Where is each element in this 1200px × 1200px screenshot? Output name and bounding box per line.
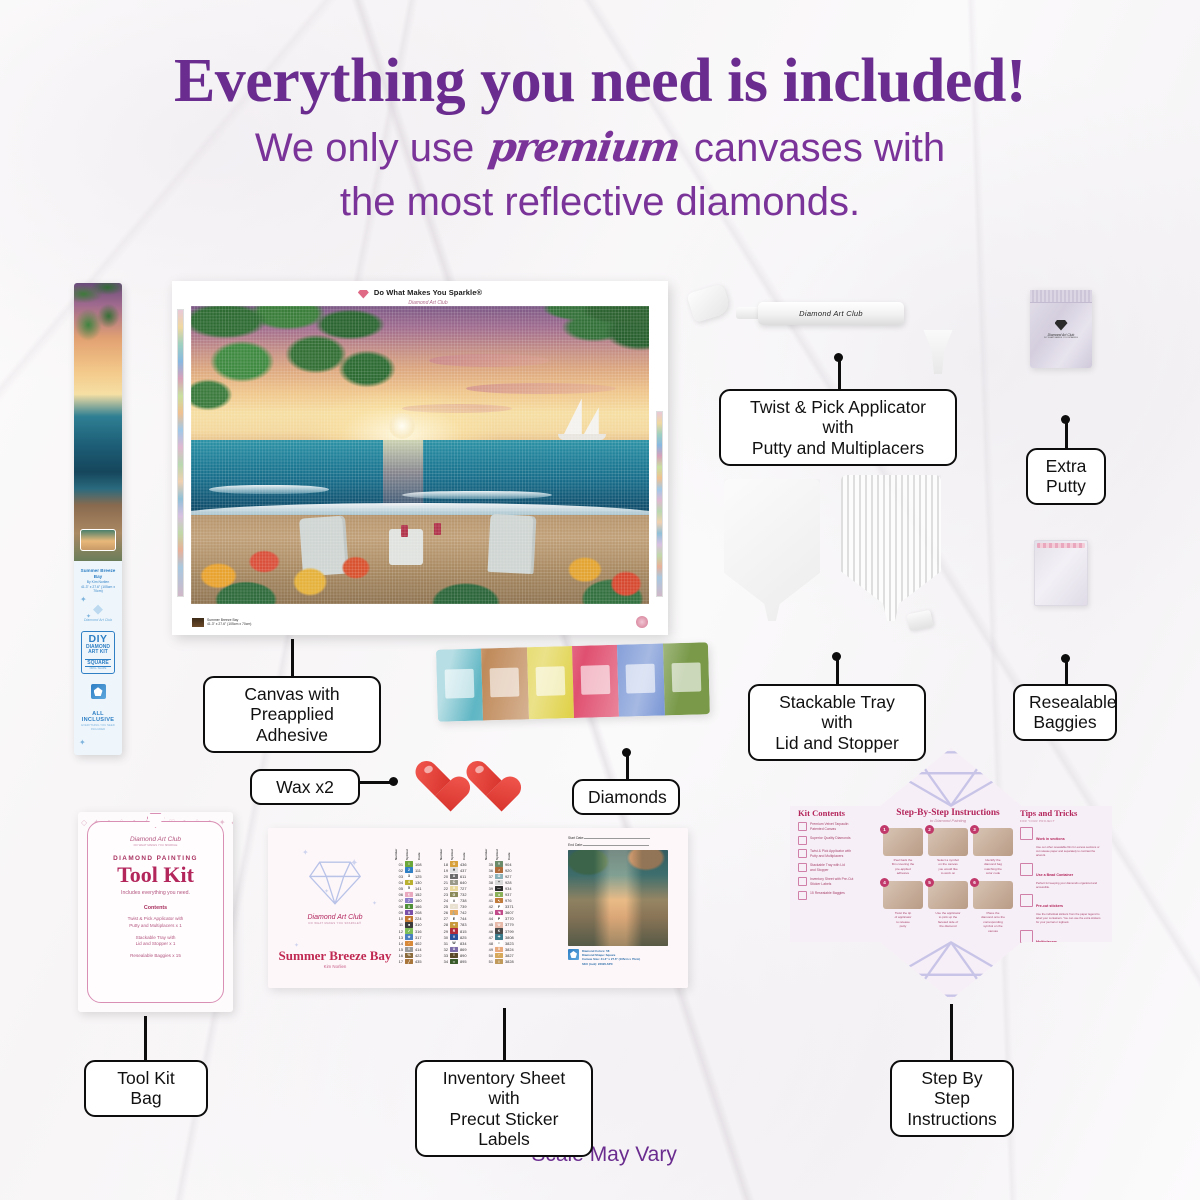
stickers-icon [1020,894,1033,907]
product-sleeve-packaging: Summer Breeze Bay By Kim Norlien 41.3" x… [74,283,122,755]
row-number: 04 [394,880,403,885]
inventory-sheet-icon [798,877,807,886]
wax-heart [466,760,508,798]
row-symbol: ■ [405,922,413,927]
inventory-meta-text: Diamond Colors: 58 Diamond Shape: Square… [582,949,640,966]
toolkit-brand: Diamond Art Club [97,836,214,843]
row-code: 310 [415,922,430,927]
toolkit-content-item: Twist & Pick Applicator with Putty and M… [97,916,214,930]
putty-bag-brand-sub: DO WHAT MAKES YOU SPARKLE [1044,337,1078,339]
artwork-wave [402,491,552,499]
row-number: 22 [439,886,448,891]
sleeve-size: 41.3" x 27.6" (105cm x 70cm) [77,585,119,594]
tip-body: Use the individual stickers from the pap… [1036,912,1104,925]
row-number: 40 [484,892,493,897]
canvas-icon [798,822,807,831]
step-photo: 5 [928,881,968,909]
step-photo: 6 [973,881,1013,909]
callout-applicator: Twist & Pick Applicator with Putty and M… [719,389,957,466]
leader-line-diamonds [626,752,629,780]
column-header: Code [507,838,522,860]
row-code: 732 [460,892,475,897]
tip-item: Pre-cut stickers Use the individual stic… [1020,894,1104,925]
callout-extra-putty: Extra Putty [1026,448,1106,505]
steps-grid: 1Peel back the film covering the pre-app… [883,828,1013,933]
callout-instructions: Step By Step Instructions [890,1060,1014,1137]
diamond-bag-sheen [436,642,710,722]
row-symbol: ╱ [405,959,413,964]
row-symbol: ◀ [405,916,413,921]
row-symbol: 8 [405,904,413,909]
sparkle-icon: ✦ [302,848,309,857]
row-number: 12 [394,929,403,934]
row-symbol: 3 [405,874,413,879]
row-code: 3828 [505,959,520,964]
row-symbol: I [495,959,503,964]
applicator-tip [736,307,760,319]
toolkit-content-item: Stackable Tray with Lid and Stopper x 1 [97,935,214,949]
row-code: 895 [460,959,475,964]
canvas-footer-right [636,616,648,628]
row-code: 435 [415,959,430,964]
leader-line-wax [358,781,391,784]
sparkle-icon: ✦ [80,595,87,604]
row-number: 01 [394,862,403,867]
kit-contents-item: Stackable Tray with Lid and Stopper [798,863,876,873]
inventory-end-date: End Date: [568,843,680,847]
row-code: 825 [460,935,475,940]
row-code: 160 [415,898,430,903]
sections-icon [1020,827,1033,840]
row-symbol: ⌐ [450,904,458,909]
kit-contents-item: 15 Resealable Baggies [798,891,876,900]
end-date-line [583,845,649,846]
row-code: 738 [460,898,475,903]
wax-heart-gloss [474,764,485,774]
row-symbol: 9 [405,910,413,915]
kit-contents-text: Superior Quality Diamonds [810,836,851,841]
diamond-painting-canvas: Do What Makes You Sparkle® Diamond Art C… [172,281,668,635]
row-number: 18 [439,862,448,867]
resealable-baggie [1034,540,1088,606]
inventory-table-col-1: NumberSymbolCode01I108022111033125044130… [394,838,432,982]
row-symbol: W [450,941,458,946]
row-number: 36 [484,868,493,873]
column-header: Symbol [405,838,415,860]
row-symbol: F [495,904,503,909]
row-symbol: P [495,916,503,921]
instruction-step: 3Identify the diamond bag matching the c… [973,828,1013,876]
row-symbol: G [450,892,458,897]
canvas-footer-notice [443,620,444,623]
row-code: 3824 [505,947,520,952]
row-number: 02 [394,868,403,873]
row-code: 783 [460,922,475,927]
row-code: 166 [415,904,430,909]
sleeve-title: Summer Breeze Bay [77,568,119,580]
canvas-product-label: Summer Breeze Bay 41.3" x 27.6" (105cm x… [207,618,251,627]
tip-body: Use our other resealable film for excess… [1036,845,1104,858]
kit-contents-text: Twist & Pick Applicator with Putty and M… [810,849,851,859]
leader-line-extra-putty [1065,419,1068,449]
row-symbol: X [495,947,503,952]
row-code: 742 [460,910,475,915]
row-number: 16 [394,953,403,958]
row-code: 611 [460,874,475,879]
applicator-brand-label: Diamond Art Club [799,309,863,318]
kit-contents-text: Stackable Tray with Lid and Stopper [810,863,845,873]
artwork-foreground-flowers [191,503,649,604]
row-symbol: ⚓ [450,910,458,915]
step-photo: 4 [883,881,923,909]
step-number: 4 [880,878,889,887]
step-photo: 3 [973,828,1013,856]
row-symbol: ✦ [450,922,458,927]
canvas-header: Do What Makes You Sparkle® Diamond Art C… [175,284,665,304]
sparkle-icon: ✦ [372,900,377,907]
row-number: 50 [484,953,493,958]
canvas-footer: Summer Breeze Bay 41.3" x 27.6" (105cm x… [192,612,648,632]
row-number: 06 [394,892,403,897]
leader-line-baggies [1065,658,1068,684]
instruction-step: 6Place the diamond onto the correspondin… [973,881,1013,933]
kit-contents-text: Premium Velvet Tarpaulin Patented Canvas [810,822,848,832]
step-number: 5 [925,878,934,887]
row-code: 3799 [505,929,520,934]
artwork-overhanging-palm [438,306,649,425]
row-code: 3827 [505,953,520,958]
row-code: 3607 [505,910,520,915]
sparkle-icon: ✦ [79,738,86,747]
canvas-swatch [192,618,204,627]
inventory-left-panel: ✦ ✦ ✦ ✦ ✦ Diamond Art Club DO WHAT MAKES… [276,836,394,982]
subtitle-part-b: canvases with [694,126,945,170]
row-number: 10 [394,916,403,921]
row-number: 38 [484,880,493,885]
subtitle-line-1: We only use premium canvases with [0,124,1200,171]
column-header: Code [417,838,432,860]
row-number: 19 [439,868,448,873]
callout-inventory: Inventory Sheet with Precut Sticker Labe… [415,1060,593,1157]
artwork-sailboat [556,398,608,440]
kit-contents-column: Kit Contents Premium Velvet Tarpaulin Pa… [798,808,876,945]
step-text: Twist the tip of applicator to release p… [883,911,923,929]
canvas-artwork [191,306,649,604]
row-symbol: V [450,934,458,939]
row-number: 20 [439,874,448,879]
bead-container-icon [1020,863,1033,876]
row-symbol: U [450,947,458,952]
row-symbol: I [450,953,458,958]
column-header: Symbol [450,838,460,860]
kit-contents-item: Superior Quality Diamonds [798,836,876,845]
instruction-step: 4Twist the tip of applicator to release … [883,881,923,933]
inventory-table-header: NumberSymbolCode [439,838,477,860]
steps-subtitle: to Diamond Painting [883,818,1013,823]
tips-title: Tips and Tricks [1020,808,1104,818]
row-symbol: Λ [450,898,458,903]
row-number: 07 [394,898,403,903]
row-code: 108 [415,862,430,867]
row-number: 13 [394,935,403,940]
quality-seal-icon [636,616,648,628]
row-code: 739 [460,904,475,909]
tip-item: Use a Bead Container Perfect for keeping… [1020,863,1104,889]
row-symbol: R [450,928,458,933]
inventory-start-date: Start Date: [568,836,680,840]
row-symbol: Ω [495,874,503,879]
step-text: Peel back the film covering the pre-appl… [883,858,923,876]
sleeve-diy-badge: DIY DIAMOND ART KIT SQUARE DRILL SHAPE [81,631,115,674]
row-number: 08 [394,904,403,909]
row-code: 934 [505,886,520,891]
artwork-hull [558,434,606,440]
instruction-step: 5Use the applicator to pick up the facet… [928,881,968,933]
row-symbol: C [450,880,458,885]
row-code: 3779 [505,922,520,927]
start-date-label: Start Date: [568,836,584,840]
step-number: 6 [970,878,979,887]
step-photo: 2 [928,828,968,856]
tray-icon [798,863,807,872]
row-number: 47 [484,935,493,940]
row-code: 130 [415,880,430,885]
row-code: 224 [415,916,430,921]
row-code: 141 [415,886,430,891]
row-code: 834 [460,941,475,946]
diamonds-icon [798,836,807,845]
step-text: Place the diamond onto the corresponding… [973,911,1013,933]
row-code: 890 [460,953,475,958]
row-number: 28 [439,922,448,927]
sleeve-drill-sub: DRILL SHAPE [83,667,113,670]
row-symbol: ▪▪ [450,959,458,964]
tip-heading: Work in sections [1036,837,1065,841]
putty-bag-seal [1030,290,1092,303]
canvas-footer-left: Summer Breeze Bay 41.3" x 27.6" (105cm x… [192,618,251,627]
callout-diamonds: Diamonds [572,779,680,815]
step-text: Select a symbol on the canvas you would … [928,858,968,876]
sleeve-info: Summer Breeze Bay By Kim Norlien 41.3" x… [74,561,122,731]
inventory-table-header: NumberSymbolCode [484,838,522,860]
column-header: Number [484,838,493,860]
row-symbol: Y [495,861,503,866]
row-symbol: % [405,953,413,958]
diamond-icon [358,290,369,299]
inventory-artwork-thumbnail [568,850,668,946]
meta-sku: SKU (tool): 22020-SPC [582,962,613,966]
end-date-label: End Date: [568,843,583,847]
instruction-step: 1Peel back the film covering the pre-app… [883,828,923,876]
toolkit-contents-heading: Contents [97,905,214,911]
inventory-meta: Diamond Colors: 58 Diamond Shape: Square… [568,949,680,966]
column-header: Symbol [495,838,505,860]
steps-column: Step-By-Step Instructions to Diamond Pai… [883,808,1013,945]
canvas-product-size: 41.3" x 27.6" (105cm x 70cm) [207,622,251,626]
callout-canvas: Canvas with Preapplied Adhesive [203,676,381,753]
sleeve-all-inclusive-sub: EVERYTHING YOU NEED INCLUDED [77,723,119,731]
row-symbol: K [495,928,503,933]
tool-kit-bag: ◇✦◈♢◆✦◇♡◈♢◇✦◆◈♢◇✦♡◆◈♢◇✦◆◈♢◇♡✦◆◈♢◇✦◆♡◈♢◇✦… [78,812,233,1012]
table-row: 34▪▪895 [439,959,477,965]
row-number: 11 [394,922,403,927]
row-number: 49 [484,947,493,952]
row-number: 45 [484,922,493,927]
kit-contents-item: Premium Velvet Tarpaulin Patented Canvas [798,822,876,832]
row-code: 402 [415,941,430,946]
row-number: 46 [484,929,493,934]
row-number: 03 [394,874,403,879]
row-number: 15 [394,947,403,952]
steps-title: Step-By-Step Instructions [883,808,1013,818]
kit-contents-item: Twist & Pick Applicator with Putty and M… [798,849,876,859]
row-code: 927 [505,874,520,879]
step-number: 3 [970,825,979,834]
instruction-step: 2Select a symbol on the canvas you would… [928,828,968,876]
table-row: 17╱435 [394,959,432,965]
toolkit-eyebrow: DIAMOND PAINTING [97,855,214,862]
leader-line-canvas [291,639,294,677]
inventory-table-header: NumberSymbolCode [394,838,432,860]
row-code: 937 [505,892,520,897]
subtitle-line-2: the most reflective diamonds. [0,180,1200,225]
leader-line-applicator [838,357,841,390]
row-code: 3823 [505,941,520,946]
row-symbol: ◥ [495,910,503,915]
row-code: 815 [460,929,475,934]
row-number: 43 [484,910,493,915]
leader-line-tray [836,656,839,684]
step-number: 2 [925,825,934,834]
row-code: 317 [415,935,430,940]
row-code: 111 [415,868,430,873]
row-code: 316 [415,929,430,934]
sleeve-all-inclusive: ALL INCLUSIVE [77,711,119,723]
artwork-sail [584,407,599,434]
sleeve-artwork [74,283,122,561]
row-code: 436 [460,862,475,867]
canvas-tagline: Do What Makes You Sparkle® [374,288,482,297]
column-header: Code [462,838,477,860]
inventory-diamond-logo [307,860,363,906]
row-code: 208 [415,910,430,915]
row-code: 3808 [505,935,520,940]
row-symbol: 5 [405,886,413,891]
sleeve-drill-chip-icon [91,684,106,699]
row-symbol: ¶ [405,892,413,897]
inventory-title: Summer Breeze Bay [276,948,394,964]
sparkle-icon: ✦ [86,613,91,620]
tips-subtitle: FOR YOUR PROJECT [1020,819,1104,823]
leader-line-instructions [950,1004,953,1060]
artwork-palm-trees [191,306,475,491]
sleeve-kit-line2: ART KIT [83,650,113,656]
row-number: 32 [439,947,448,952]
sleeve-brand: Diamond Art Club [77,618,119,622]
drill-shape-icon [568,949,579,960]
step-text: Use the applicator to pick up the facete… [928,911,968,929]
row-symbol: 4 [405,880,413,885]
table-row: 51I3828 [484,959,522,965]
row-number: 30 [439,935,448,940]
row-number: 51 [484,959,493,964]
row-code: 640 [460,880,475,885]
callout-wax: Wax x2 [250,769,360,805]
column-header: Number [394,838,403,860]
step-text: Identify the diamond bag matching the co… [973,858,1013,876]
callout-toolkit: Tool Kit Bag [84,1060,208,1117]
diamond-icon [147,813,165,828]
wax-heart-gloss [423,764,434,774]
row-code: 727 [460,886,475,891]
row-number: 27 [439,916,448,921]
row-code: 928 [505,880,520,885]
row-number: 41 [484,898,493,903]
row-number: 34 [439,959,448,964]
callout-tray: Stackable Tray with Lid and Stopper [748,684,926,761]
row-symbol: O [450,861,458,866]
inventory-brand: Diamond Art Club [276,914,394,921]
twist-pick-applicator: Diamond Art Club [758,302,904,325]
baggie-icon [798,891,807,900]
tips-column: Tips and Tricks FOR YOUR PROJECT Work in… [1020,808,1104,945]
row-symbol: 7 [405,898,413,903]
page-title: Everything you need is included! [0,46,1200,117]
row-symbol: H [450,867,458,872]
row-symbol: ☂ [495,934,503,939]
row-number: 24 [439,898,448,903]
row-symbol: A [450,874,458,879]
row-symbol: Ψ [495,922,503,927]
column-header: Number [439,838,448,860]
toolkit-title: Tool Kit [97,863,214,887]
step-photo: 1 [883,828,923,856]
kit-contents-heading: Kit Contents [798,808,876,818]
instructions-body: Kit Contents Premium Velvet Tarpaulin Pa… [790,808,1112,945]
subtitle-part-a: We only use [255,126,474,170]
row-symbol: E [450,916,458,921]
row-code: 904 [505,862,520,867]
wax-heart [415,760,457,798]
row-symbol: ✓ [405,928,413,933]
extra-putty-bag: Diamond Art Club DO WHAT MAKES YOU SPARK… [1030,290,1092,368]
row-symbol: • [495,941,503,946]
inventory-sheet: ✦ ✦ ✦ ✦ ✦ Diamond Art Club DO WHAT MAKES… [268,828,688,988]
row-number: 33 [439,953,448,958]
tip-heading: Pre-cut stickers [1036,904,1063,908]
row-number: 37 [484,874,493,879]
row-code: 920 [505,868,520,873]
toolkit-brand-sub: DO WHAT MAKES YOU SPARKLE [97,843,214,847]
applicator-icon [798,849,807,858]
kit-contents-text: Inventory Sheet with Pre-Cut Sticker Lab… [810,877,853,887]
row-code: 414 [415,947,430,952]
row-number: 35 [484,862,493,867]
row-symbol: ↖ [495,898,503,903]
row-number: 23 [439,892,448,897]
row-code: 744 [460,916,475,921]
tip-heading: Use a Bead Container [1036,873,1073,877]
diamond-icon [1055,320,1068,331]
row-number: 05 [394,886,403,891]
inventory-right-panel: Start Date: End Date: Diamond Colors: 58… [562,836,680,982]
row-code: 437 [460,868,475,873]
row-number: 09 [394,910,403,915]
row-symbol: ★ [405,934,413,939]
inventory-artist: Kim Norlien [276,964,394,969]
inventory-table-col-2: NumberSymbolCode18O43619H43720A61121C640… [439,838,477,982]
toolkit-label-panel: Diamond Art Club DO WHAT MAKES YOU SPARK… [87,821,224,1003]
